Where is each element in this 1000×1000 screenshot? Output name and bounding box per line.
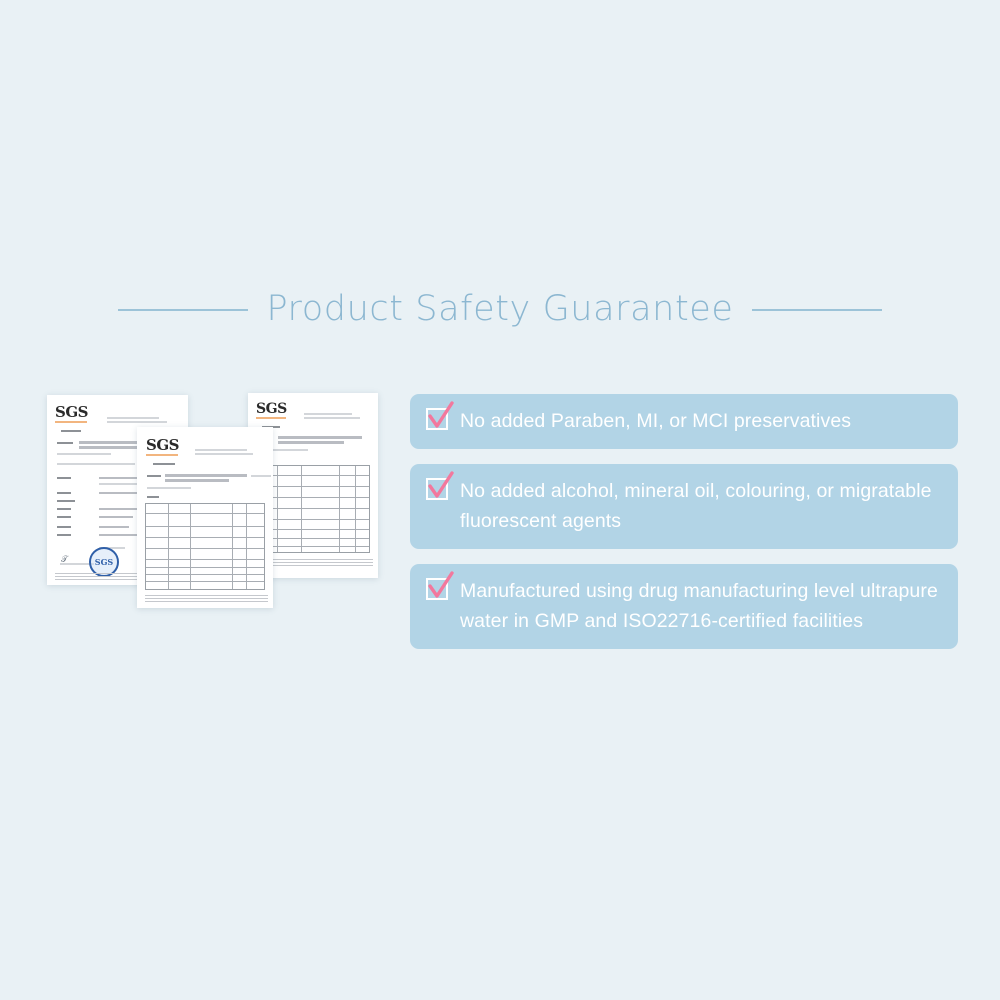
- doc-field-label: [57, 534, 71, 536]
- doc-field-label: [57, 500, 75, 502]
- sgs-logo-underline: [256, 417, 286, 419]
- doc-field-value: [99, 516, 133, 518]
- guarantee-item-label: No added alcohol, mineral oil, colouring…: [460, 476, 942, 536]
- guarantee-item-label: Manufactured using drug manufacturing le…: [460, 576, 942, 636]
- sgs-logo-underline: [146, 454, 178, 456]
- guarantee-item-label: No added Paraben, MI, or MCI preservativ…: [460, 406, 851, 436]
- doc-field-label: [57, 526, 71, 528]
- doc-field-label: [57, 508, 71, 510]
- checkbox-checked-icon: [426, 578, 448, 600]
- doc-header-line: [304, 417, 360, 419]
- doc-header-line: [107, 421, 167, 423]
- doc-line: [153, 463, 175, 465]
- certificate-document-2: SGS: [137, 427, 273, 608]
- doc-field-label: [57, 516, 71, 518]
- sgs-logo: SGS: [55, 405, 88, 420]
- doc-results-table: [256, 465, 370, 553]
- doc-header-line: [304, 413, 352, 415]
- checkbox-checked-icon: [426, 478, 448, 500]
- doc-line: [251, 475, 271, 477]
- guarantee-item: Manufactured using drug manufacturing le…: [410, 564, 958, 649]
- guarantee-item: No added alcohol, mineral oil, colouring…: [410, 464, 958, 549]
- doc-field-label: [57, 492, 71, 494]
- doc-header-line: [195, 449, 247, 451]
- doc-line: [165, 474, 247, 477]
- guarantee-list: No added Paraben, MI, or MCI preservativ…: [410, 394, 958, 664]
- doc-line: [57, 453, 111, 455]
- doc-line: [147, 475, 161, 477]
- certificate-stack: SGS 𝒯 SGS SGS: [0, 0, 400, 1000]
- title-rule-right: [752, 309, 882, 311]
- doc-results-table: [145, 503, 265, 590]
- doc-line: [165, 479, 229, 482]
- doc-field-label: [57, 477, 71, 479]
- guarantee-item: No added Paraben, MI, or MCI preservativ…: [410, 394, 958, 449]
- sgs-logo-underline: [55, 421, 87, 423]
- doc-line: [61, 430, 81, 432]
- doc-footer-disclaimer: [145, 595, 267, 604]
- doc-header-line: [195, 453, 253, 455]
- sgs-logo: SGS: [146, 438, 179, 453]
- doc-footer-disclaimer: [256, 559, 373, 568]
- doc-line: [57, 442, 73, 444]
- doc-field-value: [99, 526, 129, 528]
- page-title-row: Product Safety Guarantee: [0, 292, 1000, 327]
- doc-line: [278, 441, 344, 444]
- checkbox-checked-icon: [426, 408, 448, 430]
- doc-line: [57, 463, 135, 465]
- title-rule-left: [118, 309, 248, 311]
- doc-line: [147, 487, 191, 489]
- doc-line: [278, 436, 362, 439]
- sgs-logo: SGS: [256, 402, 287, 416]
- page-title: Product Safety Guarantee: [266, 292, 733, 327]
- doc-line: [147, 496, 159, 498]
- doc-header-line: [107, 417, 159, 419]
